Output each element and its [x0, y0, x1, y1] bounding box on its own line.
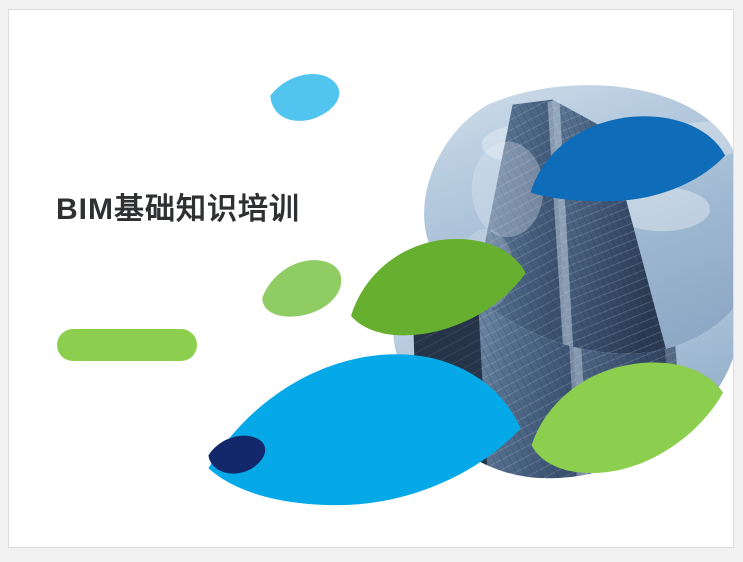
slide-outer-frame: BIM基础知识培训 [0, 0, 743, 562]
page-title: BIM基础知识培训 [56, 190, 300, 230]
slide-canvas: BIM基础知识培训 [8, 9, 734, 548]
leaf-light-cyan-top [270, 74, 339, 121]
accent-pill [57, 329, 197, 361]
decorative-artwork-layer [9, 10, 733, 547]
leaf-light-green-small [262, 260, 341, 317]
leaf-cyan-large-bottom [208, 354, 520, 505]
